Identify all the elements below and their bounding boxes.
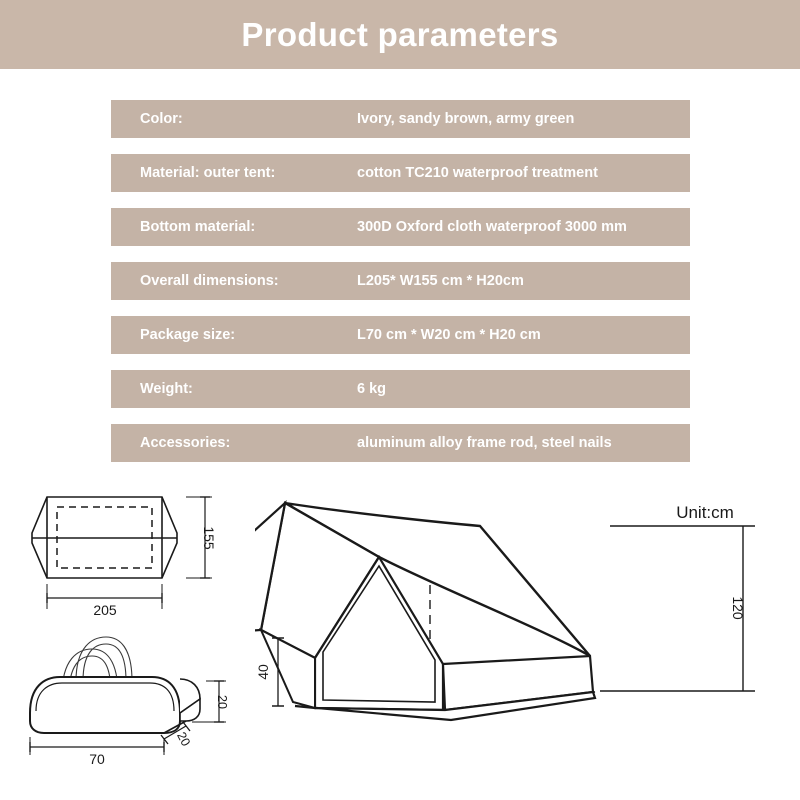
table-row: Color: Ivory, sandy brown, army green — [111, 100, 690, 138]
unit-label: Unit:cm — [676, 503, 734, 522]
row-label: Overall dimensions: — [140, 273, 279, 289]
row-value: L70 cm * W20 cm * H20 cm — [357, 327, 541, 343]
bag-width-label: 70 — [89, 751, 105, 765]
row-label: Accessories: — [140, 435, 230, 451]
table-row: Accessories: aluminum alloy frame rod, s… — [111, 424, 690, 462]
row-label: Material: outer tent: — [140, 165, 275, 181]
table-row: Material: outer tent: cotton TC210 water… — [111, 154, 690, 192]
tent-wall-height-label: 40 — [255, 664, 271, 680]
table-row: Package size: L70 cm * W20 cm * H20 cm — [111, 316, 690, 354]
table-row: Weight: 6 kg — [111, 370, 690, 408]
table-row: Overall dimensions: L205* W155 cm * H20c… — [111, 262, 690, 300]
tent-perspective-diagram: 40 Unit:cm 120 — [255, 480, 795, 780]
tent-height-label: 120 — [730, 596, 746, 620]
header-banner: Product parameters — [0, 0, 800, 69]
row-value: Ivory, sandy brown, army green — [357, 111, 574, 127]
bag-body-front — [30, 677, 180, 733]
row-value: 300D Oxford cloth waterproof 3000 mm — [357, 219, 627, 235]
table-row: Bottom material: 300D Oxford cloth water… — [111, 208, 690, 246]
row-value: aluminum alloy frame rod, steel nails — [357, 435, 612, 451]
row-label: Package size: — [140, 327, 235, 343]
row-label: Color: — [140, 111, 183, 127]
floorplan-height-label: 155 — [201, 526, 217, 550]
bag-depth-label: 20 — [174, 730, 193, 749]
row-value: cotton TC210 waterproof treatment — [357, 165, 598, 181]
row-label: Bottom material: — [140, 219, 255, 235]
carry-bag-diagram: 20 20 70 — [14, 625, 264, 765]
tent-floor-plan-diagram: 155 205 — [14, 485, 264, 615]
page-title: Product parameters — [241, 16, 558, 54]
row-label: Weight: — [140, 381, 193, 397]
bag-height-label: 20 — [215, 695, 229, 709]
row-value: 6 kg — [357, 381, 386, 397]
row-value: L205* W155 cm * H20cm — [357, 273, 524, 289]
floorplan-width-label: 205 — [93, 602, 117, 615]
product-parameters-table: Color: Ivory, sandy brown, army green Ma… — [111, 100, 690, 478]
technical-drawings: 155 205 20 20 — [0, 470, 800, 800]
